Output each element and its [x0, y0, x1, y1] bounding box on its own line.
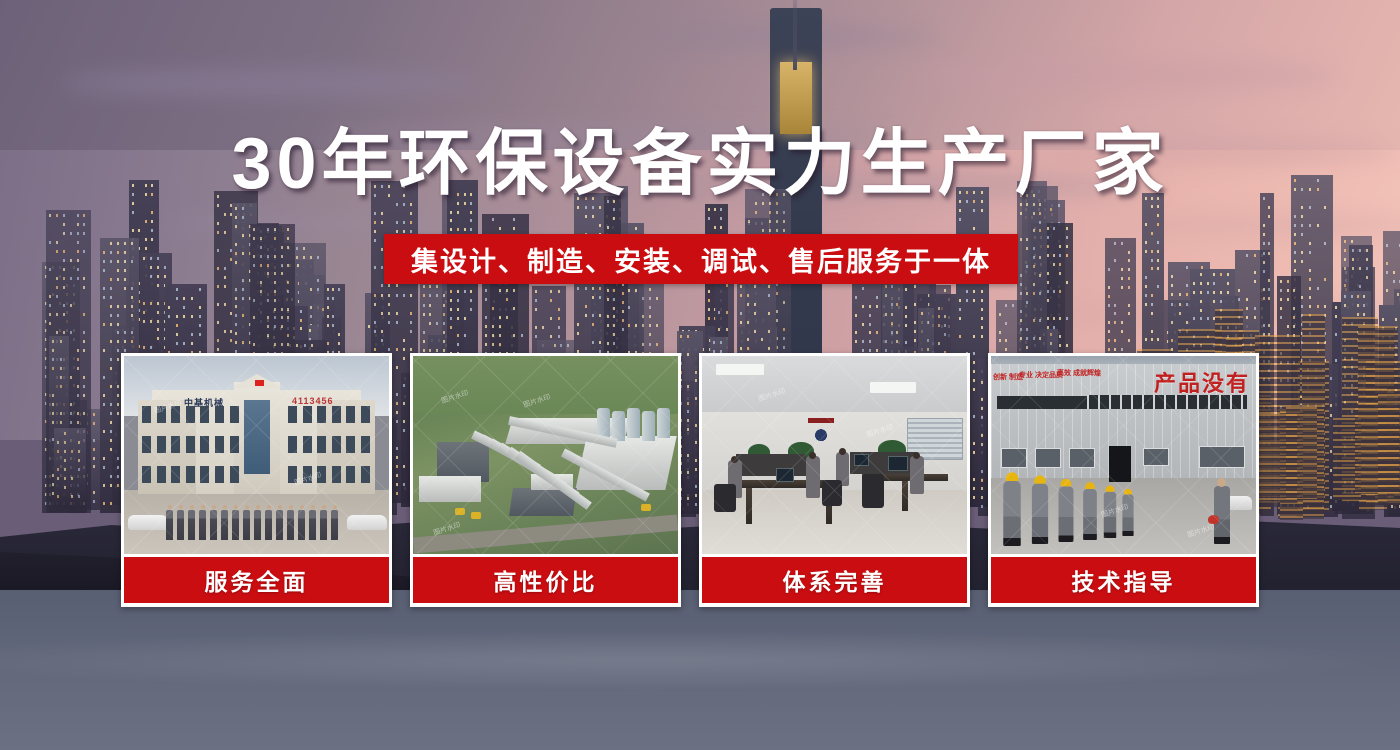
feature-card-guidance[interactable]: 产品没有 创新 制造 专业 决定品质 高效 成就辉煌 图片水印 图片水印 技术指…: [988, 353, 1259, 607]
ceiling-light: [716, 364, 764, 375]
supervisor-head: [1217, 478, 1226, 487]
factory-slogan-large: 产品没有: [1154, 366, 1250, 398]
car-right: [347, 515, 387, 530]
wall-logo: [806, 422, 836, 444]
photo-farmland: [413, 356, 678, 414]
facade-vent-strip: [997, 396, 1247, 409]
tower-antenna: [793, 0, 797, 70]
water-reflection: [0, 630, 1400, 690]
flag-icon: [255, 380, 264, 386]
ceiling-light: [870, 382, 916, 393]
lit-facade: [1378, 394, 1400, 505]
building-phone-text: 4113456: [292, 396, 334, 406]
card-caption-bar: 高性价比: [413, 557, 678, 603]
card-photo-plant-aerial: 图片水印 图片水印 图片水印: [413, 356, 678, 554]
card-caption-text: 高性价比: [494, 563, 598, 597]
feature-card-service[interactable]: 中基机械 4113456 图片水印 图片水印 服务全面: [121, 353, 392, 607]
river-water: [0, 590, 1400, 750]
card-caption-bar: 技术指导: [991, 557, 1256, 603]
factory-slogan-small: 高效 成就辉煌: [1057, 370, 1101, 379]
card-caption-text: 体系完善: [783, 563, 887, 597]
subtitle-text: 集设计、制造、安装、调试、售后服务于一体: [411, 240, 991, 279]
card-photo-company-building: 中基机械 4113456 图片水印 图片水印: [124, 356, 389, 554]
feature-card-value[interactable]: 图片水印 图片水印 图片水印 高性价比: [410, 353, 681, 607]
card-photo-office: 图片水印 图片水印: [702, 356, 967, 554]
card-photo-workers: 产品没有 创新 制造 专业 决定品质 高效 成就辉煌 图片水印 图片水印: [991, 356, 1256, 554]
red-helmet-icon: [1208, 515, 1219, 524]
card-caption-text: 服务全面: [205, 563, 309, 597]
car-left: [128, 515, 168, 530]
lit-facade: [1286, 407, 1318, 499]
building: [54, 428, 87, 507]
factory-door: [1109, 446, 1131, 482]
feature-card-system[interactable]: 图片水印 图片水印 体系完善: [699, 353, 970, 607]
feature-card-row: 中基机械 4113456 图片水印 图片水印 服务全面 图片水印: [121, 353, 1275, 607]
card-caption-bar: 体系完善: [702, 557, 967, 603]
card-caption-text: 技术指导: [1072, 563, 1176, 597]
page-title: 30年环保设备实力生产厂家: [0, 128, 1400, 200]
card-caption-bar: 服务全面: [124, 557, 389, 603]
promo-banner: 30年环保设备实力生产厂家 集设计、制造、安装、调试、售后服务于一体 中基机械 …: [0, 0, 1400, 750]
supervisor-figure: [1214, 486, 1230, 544]
subtitle-banner: 集设计、制造、安装、调试、售后服务于一体: [384, 234, 1018, 284]
building-glass-atrium: [244, 400, 270, 474]
